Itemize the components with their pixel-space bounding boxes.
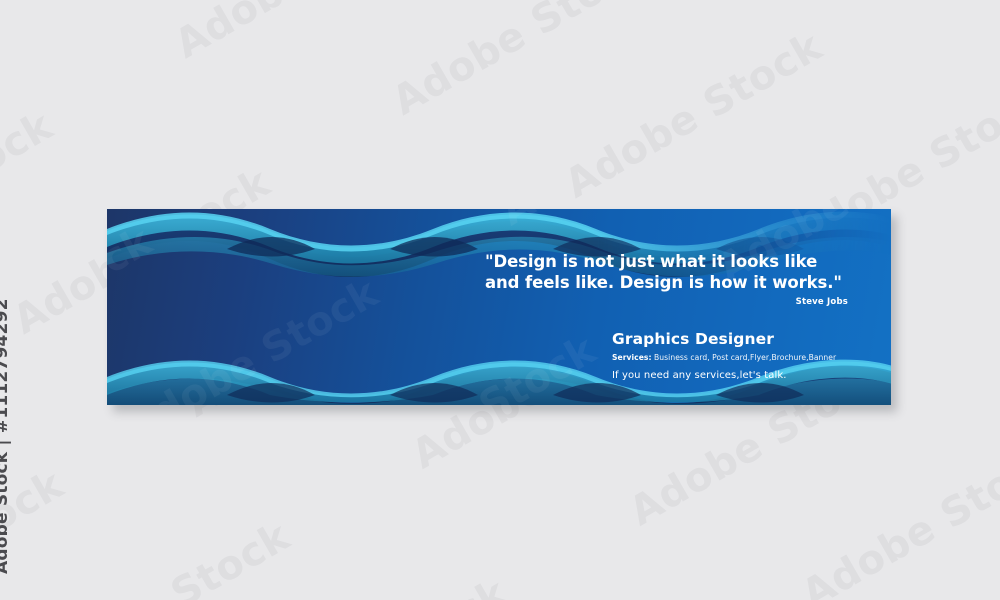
- banner-content: "Design is not just what it looks like a…: [107, 209, 891, 405]
- quote-author: Steve Jobs: [485, 297, 885, 307]
- watermark-text: Adobe Stock: [385, 0, 657, 125]
- watermark-text: Adobe Stock: [243, 570, 515, 600]
- stock-caption-text: Adobe Stock | #1112794292: [0, 298, 12, 574]
- watermark-text: Adobe Stock: [794, 434, 1000, 600]
- quote-line-1: "Design is not just what it looks like: [485, 251, 885, 272]
- service-block: Graphics Designer Services: Business car…: [612, 330, 891, 381]
- service-cta: If you need any services,let's talk.: [612, 370, 891, 381]
- service-list-label: Services:: [612, 353, 652, 362]
- banner-artwork: Adobe Stock Adobe Stock Adobe Stock Adob…: [107, 209, 891, 405]
- service-list-value: Business card, Post card,Flyer,Brochure,…: [652, 353, 837, 362]
- quote-line-2: and feels like. Design is how it works.": [485, 272, 885, 293]
- watermark-text: Adobe Stock: [167, 0, 439, 68]
- service-title: Graphics Designer: [612, 330, 891, 348]
- stock-photo-canvas: Adobe Stock Adobe Stock Adobe Stock Adob…: [0, 0, 1000, 600]
- watermark-text: Adobe Stock: [25, 513, 297, 600]
- stock-caption: Adobe Stock | #1112794292: [0, 0, 48, 600]
- watermark-text: Adobe Stock: [557, 24, 829, 208]
- service-list: Services: Business card, Post card,Flyer…: [612, 353, 891, 362]
- quote-block: "Design is not just what it looks like a…: [485, 251, 885, 307]
